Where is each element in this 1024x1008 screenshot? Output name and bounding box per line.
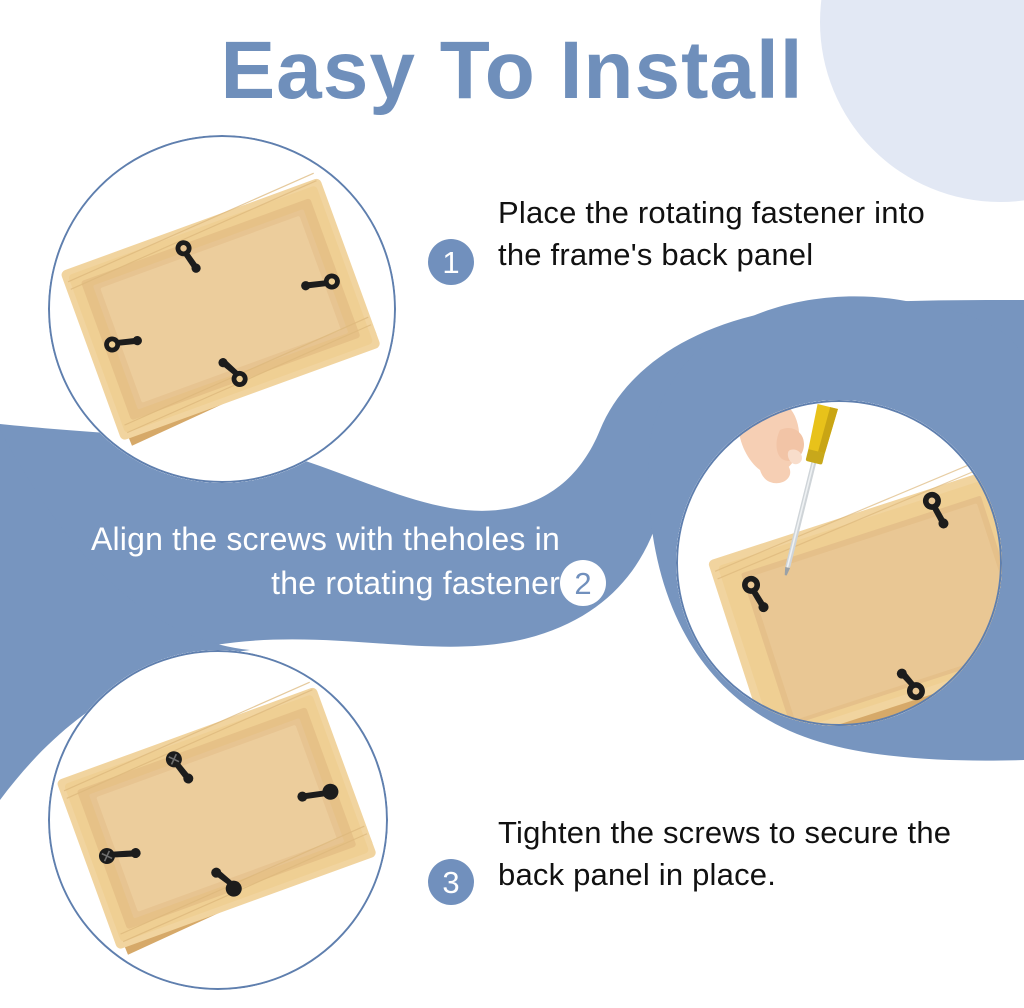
step-1-instruction: Place the rotating fastener into the fra… [498,192,968,276]
step-2-photo-inner [676,400,1002,726]
step-3-badge: 3 [428,859,474,905]
step-3-photo-inner [48,650,388,990]
frame-illustration-step-1 [48,135,396,483]
step-1-photo [48,135,396,483]
frame-illustration-step-3 [48,650,388,990]
page-title: Easy To Install [0,30,1024,112]
step-3-instruction: Tighten the screws to secure the back pa… [498,812,968,896]
step-1-badge: 1 [428,239,474,285]
infographic-root: Easy To Install [0,0,1024,1008]
step-1-photo-inner [48,135,396,483]
step-2-badge: 2 [560,560,606,606]
step-3-photo [48,650,388,990]
step-2-photo [676,400,1002,726]
step-2-instruction: Align the screws with theholes in the ro… [60,518,560,605]
frame-illustration-step-2 [676,400,1002,726]
